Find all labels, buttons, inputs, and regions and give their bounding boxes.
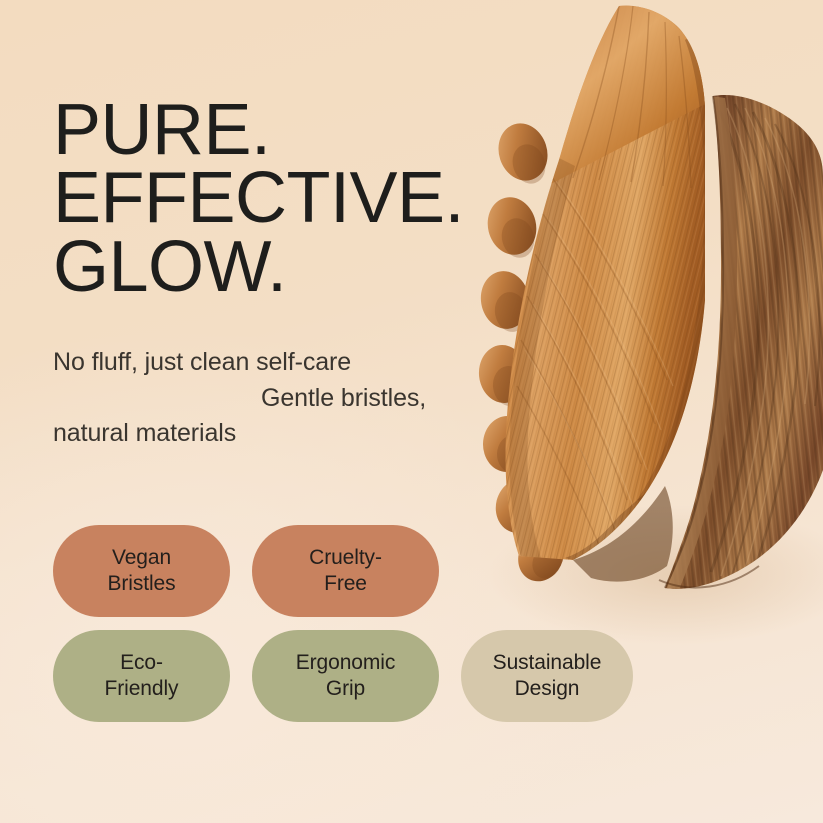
badge-row-1: Vegan Bristles Cruelty- Free (53, 525, 733, 617)
badge-vegan-bristles[interactable]: Vegan Bristles (53, 525, 230, 617)
headline-line-3: GLOW. (53, 233, 523, 301)
text-content-block: PURE. EFFECTIVE. GLOW. No fluff, just cl… (53, 96, 523, 452)
badge-label: Eco- Friendly (105, 650, 179, 701)
badge-label: Cruelty- Free (309, 545, 382, 596)
badge-label-line-1: Sustainable (493, 651, 602, 674)
headline-line-1: PURE. (53, 96, 523, 164)
badge-label-line-1: Ergonomic (296, 651, 395, 674)
subtitle-line-2: Gentle bristles, (53, 381, 523, 417)
badge-label-line-2: Bristles (107, 572, 175, 595)
badge-label-line-2: Free (324, 572, 367, 595)
badge-label: Ergonomic Grip (296, 650, 395, 701)
badge-label: Sustainable Design (493, 650, 602, 701)
badge-label-line-2: Grip (326, 677, 365, 700)
badge-label: Vegan Bristles (107, 545, 175, 596)
badge-eco-friendly[interactable]: Eco- Friendly (53, 630, 230, 722)
subtitle-line-1: No fluff, just clean self-care (53, 345, 523, 381)
poster-canvas: PURE. EFFECTIVE. GLOW. No fluff, just cl… (0, 0, 823, 823)
wood-paddle-shape (653, 80, 823, 600)
badge-label-line-1: Vegan (112, 546, 171, 569)
badge-label-line-1: Eco- (120, 651, 163, 674)
badge-ergonomic-grip[interactable]: Ergonomic Grip (252, 630, 439, 722)
badge-row-2: Eco- Friendly Ergonomic Grip Sustainable… (53, 630, 733, 722)
badge-cruelty-free[interactable]: Cruelty- Free (252, 525, 439, 617)
subtitle-line-3: natural materials (53, 416, 523, 452)
badge-label-line-1: Cruelty- (309, 546, 382, 569)
badge-label-line-2: Design (515, 677, 580, 700)
page-title: PURE. EFFECTIVE. GLOW. (53, 96, 523, 301)
subtitle: No fluff, just clean self-care Gentle br… (53, 345, 523, 452)
badge-label-line-2: Friendly (105, 677, 179, 700)
feature-badges: Vegan Bristles Cruelty- Free Eco- Friend… (53, 525, 733, 735)
headline-line-2: EFFECTIVE. (53, 164, 523, 232)
badge-sustainable-design[interactable]: Sustainable Design (461, 630, 633, 722)
